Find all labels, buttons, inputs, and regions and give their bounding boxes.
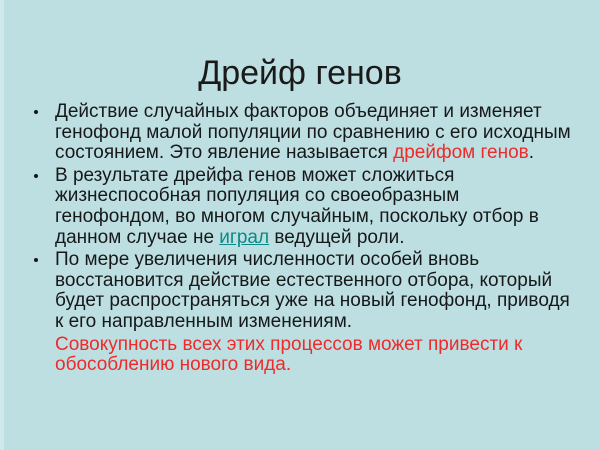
list-item: По мере увеличения численности особей вн…: [26, 250, 578, 332]
bullet-2-segment-3: ведущей роли.: [269, 227, 404, 248]
bullet-1-segment-3: .: [529, 142, 534, 163]
list-item: В результате дрейфа генов может сложитьс…: [26, 166, 578, 248]
closing-paragraph: Совокупность всех этих процессов может п…: [26, 335, 578, 376]
presentation-slide: Дрейф генов Действие случайных факторов …: [0, 0, 600, 450]
bullet-list: Действие случайных факторов объединяет и…: [26, 102, 578, 333]
hyperlink-igral[interactable]: играл: [219, 227, 269, 248]
list-item: Действие случайных факторов объединяет и…: [26, 102, 578, 164]
slide-body: Действие случайных факторов объединяет и…: [26, 102, 578, 376]
bullet-dot-icon: [34, 174, 38, 178]
page-title: Дрейф генов: [0, 53, 600, 93]
bullet-dot-icon: [34, 258, 38, 262]
bullet-1-segment-term-drift: дрейфом генов: [393, 142, 529, 163]
bullet-3-segment-1: По мере увеличения численности особей вн…: [55, 249, 570, 332]
bullet-dot-icon: [34, 110, 38, 114]
